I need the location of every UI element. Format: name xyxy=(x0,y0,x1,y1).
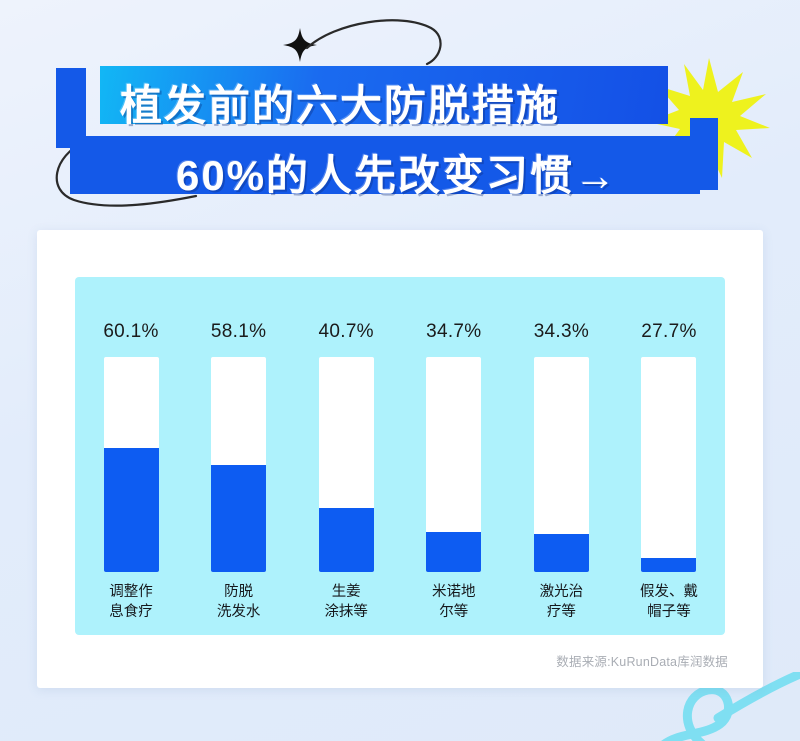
bar-fill xyxy=(426,532,481,573)
bar-chart: 60.1%调整作 息食疗58.1%防脱 洗发水40.7%生姜 涂抹等34.7%米… xyxy=(95,292,705,622)
bar-track xyxy=(104,357,159,572)
bar-track xyxy=(534,357,589,572)
poster-title-line-1: 植发前的六大防脱措施 xyxy=(120,72,560,133)
sparkle-star-icon xyxy=(283,28,317,62)
bar-column: 34.7%米诺地 尔等 xyxy=(418,292,490,622)
bar-column: 58.1%防脱 洗发水 xyxy=(203,292,275,622)
bar-column: 60.1%调整作 息食疗 xyxy=(95,292,167,622)
bar-track xyxy=(211,357,266,572)
bar-value-label: 58.1% xyxy=(211,321,266,343)
bar-value-label: 60.1% xyxy=(103,321,158,343)
bar-fill xyxy=(104,448,159,573)
bar-value-label: 27.7% xyxy=(641,321,696,343)
bar-value-label: 34.7% xyxy=(426,321,481,343)
bar-column: 27.7%假发、戴 帽子等 xyxy=(633,292,705,622)
bar-fill xyxy=(534,534,589,573)
bar-category-label: 生姜 涂抹等 xyxy=(324,583,368,622)
bar-fill xyxy=(211,465,266,573)
bar-category-label: 防脱 洗发水 xyxy=(217,583,261,622)
bar-category-label: 激光治 疗等 xyxy=(540,583,584,622)
bar-fill xyxy=(641,558,696,572)
bar-fill xyxy=(319,508,374,573)
poster-title-line-2: 60%的人先改变习惯→ xyxy=(176,142,618,203)
bar-value-label: 34.3% xyxy=(534,321,589,343)
bar-track xyxy=(641,357,696,572)
data-source-label: 数据来源:KuRunData库润数据 xyxy=(556,651,728,670)
bar-column: 40.7%生姜 涂抹等 xyxy=(310,292,382,622)
bar-track xyxy=(426,357,481,572)
bar-category-label: 假发、戴 帽子等 xyxy=(640,583,698,622)
bar-category-label: 米诺地 尔等 xyxy=(432,583,476,622)
bar-category-label: 调整作 息食疗 xyxy=(109,583,153,622)
bar-track xyxy=(319,357,374,572)
poster-canvas: 植发前的六大防脱措施 60%的人先改变习惯→ 60.1%调整作 息食疗58.1%… xyxy=(0,0,800,741)
swoosh-line-top-icon xyxy=(305,14,445,70)
bar-column: 34.3%激光治 疗等 xyxy=(525,292,597,622)
bar-value-label: 40.7% xyxy=(319,321,374,343)
